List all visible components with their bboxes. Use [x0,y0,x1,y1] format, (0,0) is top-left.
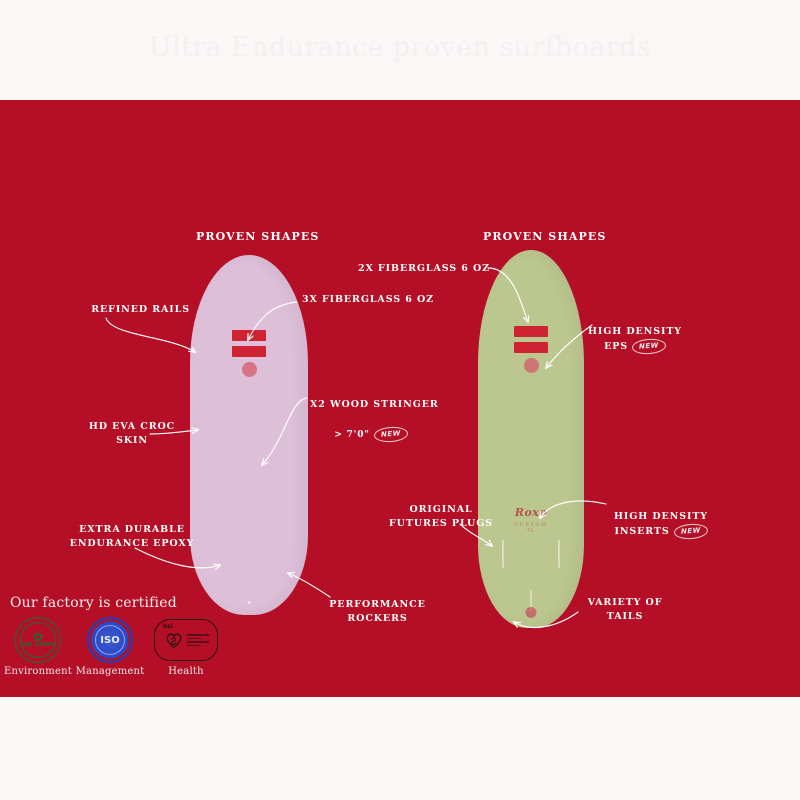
deck-stamp-icon [242,362,257,377]
cert-management[interactable]: ISO Management [74,617,146,677]
bsi-line [187,641,209,643]
new-badge-stringer: NEW [373,425,408,442]
label-2x-fiberglass: 2X FIBERGLASS 6 OZ [300,262,490,276]
bsi-line [187,645,201,647]
poster-root: Ultra Endurance proven surfboards PROVEN… [0,0,800,800]
label-performance-rockers: PERFORMANCE ROCKERS [310,598,445,626]
left-board-caption: PROVEN SHAPES [196,230,319,243]
bsi-text: bsi [163,623,173,630]
surfboard-left[interactable] [190,255,308,615]
heart-icon [164,630,184,650]
bsi-text-lines [187,634,209,646]
label-3x-fiberglass: 3X FIBERGLASS 6 OZ [302,293,472,307]
surfboard-right[interactable]: Roxo CUSTOM 7L [478,250,584,628]
fin-plug-right-icon [558,540,560,568]
wood-stringer-size-row: > 7'0"NEW [310,414,470,442]
label-wood-stringer: X2 WOOD STRINGER > 7'0"NEW [310,384,470,455]
left-deck-graphic [232,330,266,377]
new-badge-eps: NEW [632,337,667,354]
cert-label-health: Health [146,666,226,677]
iso-14001-leaf-icon: ✿ ISO 14001 [2,617,74,663]
label-original-futures-plugs: ORIGINAL FUTURES PLUGS [386,503,496,531]
right-board-wordmark: Roxo CUSTOM 7L [514,506,548,534]
cert-label-environment: Environment [2,666,74,677]
certification-title: Our factory is certified [10,595,177,611]
iso-14001-text: ISO 14001 [21,642,55,648]
right-tail-stamp-icon [526,607,537,618]
label-endurance-epoxy: EXTRA DURABLE ENDURANCE EPOXY [52,523,212,551]
wordmark-sub2: 7L [514,528,548,534]
deck-bar-bottom [514,342,548,353]
deck-bar-top [514,326,548,337]
new-badge-inserts: NEW [673,522,708,539]
label-hd-eva-croc-skin: HD EVA CROC SKIN [62,420,202,448]
right-deck-graphic [514,326,548,373]
fin-plug-left-icon [502,540,504,568]
deck-bar-top [232,330,266,341]
label-wood-stringer-text: X2 WOOD STRINGER [310,399,439,410]
iso-9001-icon: ISO [74,617,146,663]
iso-text: ISO [95,625,125,655]
left-tail-dot-icon [248,601,251,604]
deck-bar-bottom [232,346,266,357]
wordmark-text: Roxo [515,506,547,519]
right-board-caption: PROVEN SHAPES [483,230,606,243]
certification-row: ✿ ISO 14001 Environment ISO Management b… [2,617,226,677]
cert-environment[interactable]: ✿ ISO 14001 Environment [2,617,74,677]
left-board-blank [190,255,308,615]
bsi-health-icon: bsi [146,617,226,663]
bsi-line [187,638,201,640]
label-high-density-eps: HIGH DENSITY EPSNEW [580,311,690,354]
deck-stamp-icon [524,358,539,373]
right-board-blank [478,250,584,628]
label-high-density-inserts: HIGH DENSITY INSERTSNEW [606,496,716,539]
cert-label-management: Management [74,666,146,677]
label-refined-rails: REFINED RAILS [50,303,190,317]
leaf-glyph: ✿ [33,632,43,642]
wood-stringer-size: > 7'0" [334,430,369,440]
bsi-line [187,634,209,636]
page-title: Ultra Endurance proven surfboards [0,32,800,63]
cert-health[interactable]: bsi Health [146,617,226,677]
label-variety-of-tails: VARIETY OF TAILS [570,596,680,624]
